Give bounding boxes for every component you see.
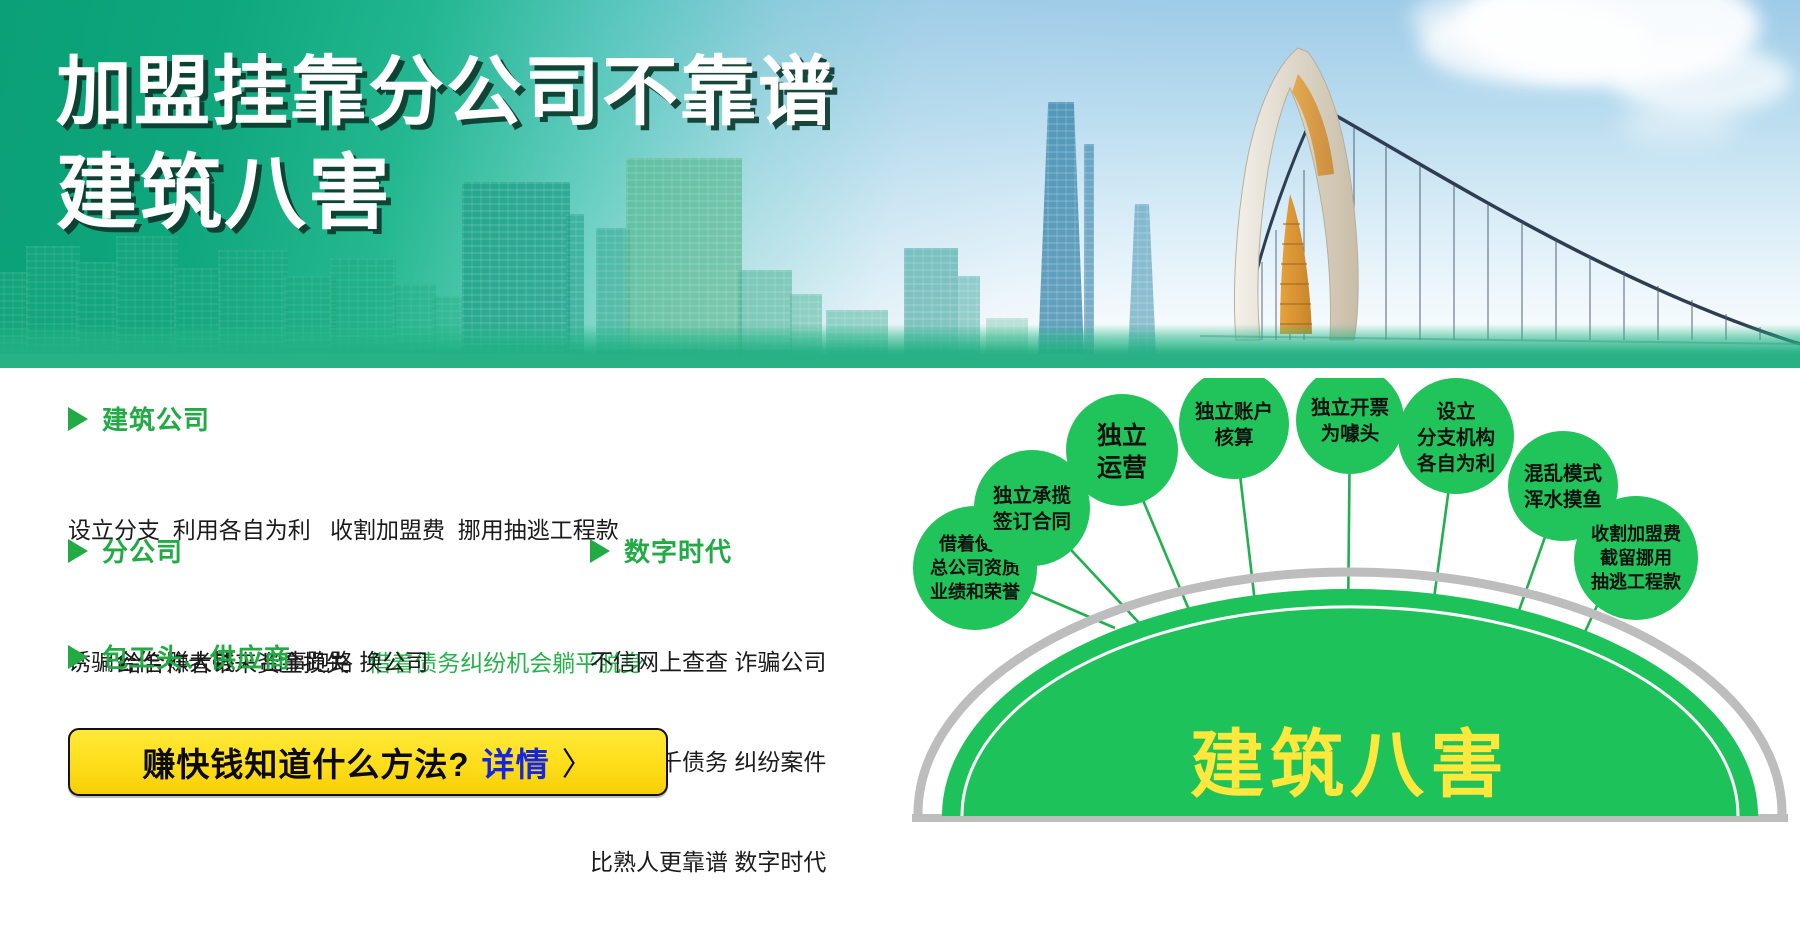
triangle-bullet-icon — [68, 645, 88, 669]
cta-question-label: 赚快钱知道什么方法? — [142, 738, 469, 786]
section-title: 包工头、供应商 — [102, 638, 291, 675]
dome-label: 建筑八害 — [1190, 723, 1510, 806]
bubble-line: 各自为利 — [1416, 452, 1495, 475]
headline-line-2: 建筑八害 — [56, 150, 836, 239]
cta-link-label[interactable]: 详情 — [482, 738, 550, 786]
bubble-b8[interactable]: 收割加盟费 截留挪用 抽逃工程款 — [1574, 496, 1698, 620]
bubble-line: 运营 — [1097, 454, 1147, 482]
section-title: 数字时代 — [624, 532, 732, 569]
section-title: 分公司 — [102, 532, 183, 569]
bubble-line: 独立账户 — [1195, 400, 1273, 423]
eight-harms-diagram: 建筑八害 借着使用 总公司资质 业绩和荣誉 独立承揽 签订合同 独立 运营 独立… — [900, 378, 1800, 844]
section-header: 建筑公司 — [68, 400, 688, 437]
bubble-line: 独立 — [1097, 421, 1147, 450]
bubble-line: 为噱头 — [1321, 422, 1380, 445]
bubble-line: 分支机构 — [1417, 426, 1495, 449]
bubble-line: 独立承揽 — [993, 484, 1072, 507]
triangle-bullet-icon — [68, 407, 88, 431]
bubble-line: 截留挪用 — [1600, 547, 1672, 568]
bubble-line: 总公司资质 — [930, 557, 1020, 578]
section-title: 建筑公司 — [102, 400, 210, 437]
bubble-line: 抽逃工程款 — [1591, 571, 1682, 592]
bubble-line: 浑水摸鱼 — [1524, 488, 1602, 511]
bubble-line: 收割加盟费 — [1591, 523, 1681, 544]
headline-line-1: 加盟挂靠分公司不靠谱 — [56, 52, 836, 134]
hero-banner: 加盟挂靠分公司不靠谱 建筑八害 — [0, 0, 1800, 368]
bubble-b5[interactable]: 独立开票 为噱头 — [1296, 378, 1404, 474]
chevron-right-icon: 〉 — [562, 739, 594, 785]
hero-base-bar — [0, 354, 1800, 368]
section-line: 比熟人更靠谱 数字时代 — [590, 846, 870, 879]
bubble-b4[interactable]: 独立账户 核算 — [1179, 378, 1289, 479]
section-header: 包工头、供应商 — [68, 638, 628, 675]
bubble-line: 独立开票 — [1311, 396, 1389, 419]
section-header: 数字时代 — [590, 532, 870, 569]
bubble-b6[interactable]: 设立 分支机构 各自为利 — [1398, 378, 1514, 494]
section-header: 分公司 — [68, 532, 628, 569]
bubble-line: 设立 — [1436, 400, 1475, 423]
triangle-bullet-icon — [68, 539, 88, 563]
bridge-illustration — [1140, 44, 1800, 354]
page-title: 加盟挂靠分公司不靠谱 建筑八害 — [56, 52, 836, 239]
bubble-line: 混乱模式 — [1524, 462, 1603, 485]
bubble-line: 核算 — [1214, 426, 1253, 449]
triangle-bullet-icon — [590, 539, 610, 563]
bubble-line: 业绩和荣誉 — [930, 581, 1021, 602]
bubble-line: 签订合同 — [992, 510, 1071, 533]
cta-details-button[interactable]: 赚快钱知道什么方法? 详情 〉 — [68, 728, 668, 796]
bubble-b3[interactable]: 独立 运营 — [1066, 394, 1178, 506]
section-line: 不信网上查查 诈骗公司 — [590, 646, 870, 679]
